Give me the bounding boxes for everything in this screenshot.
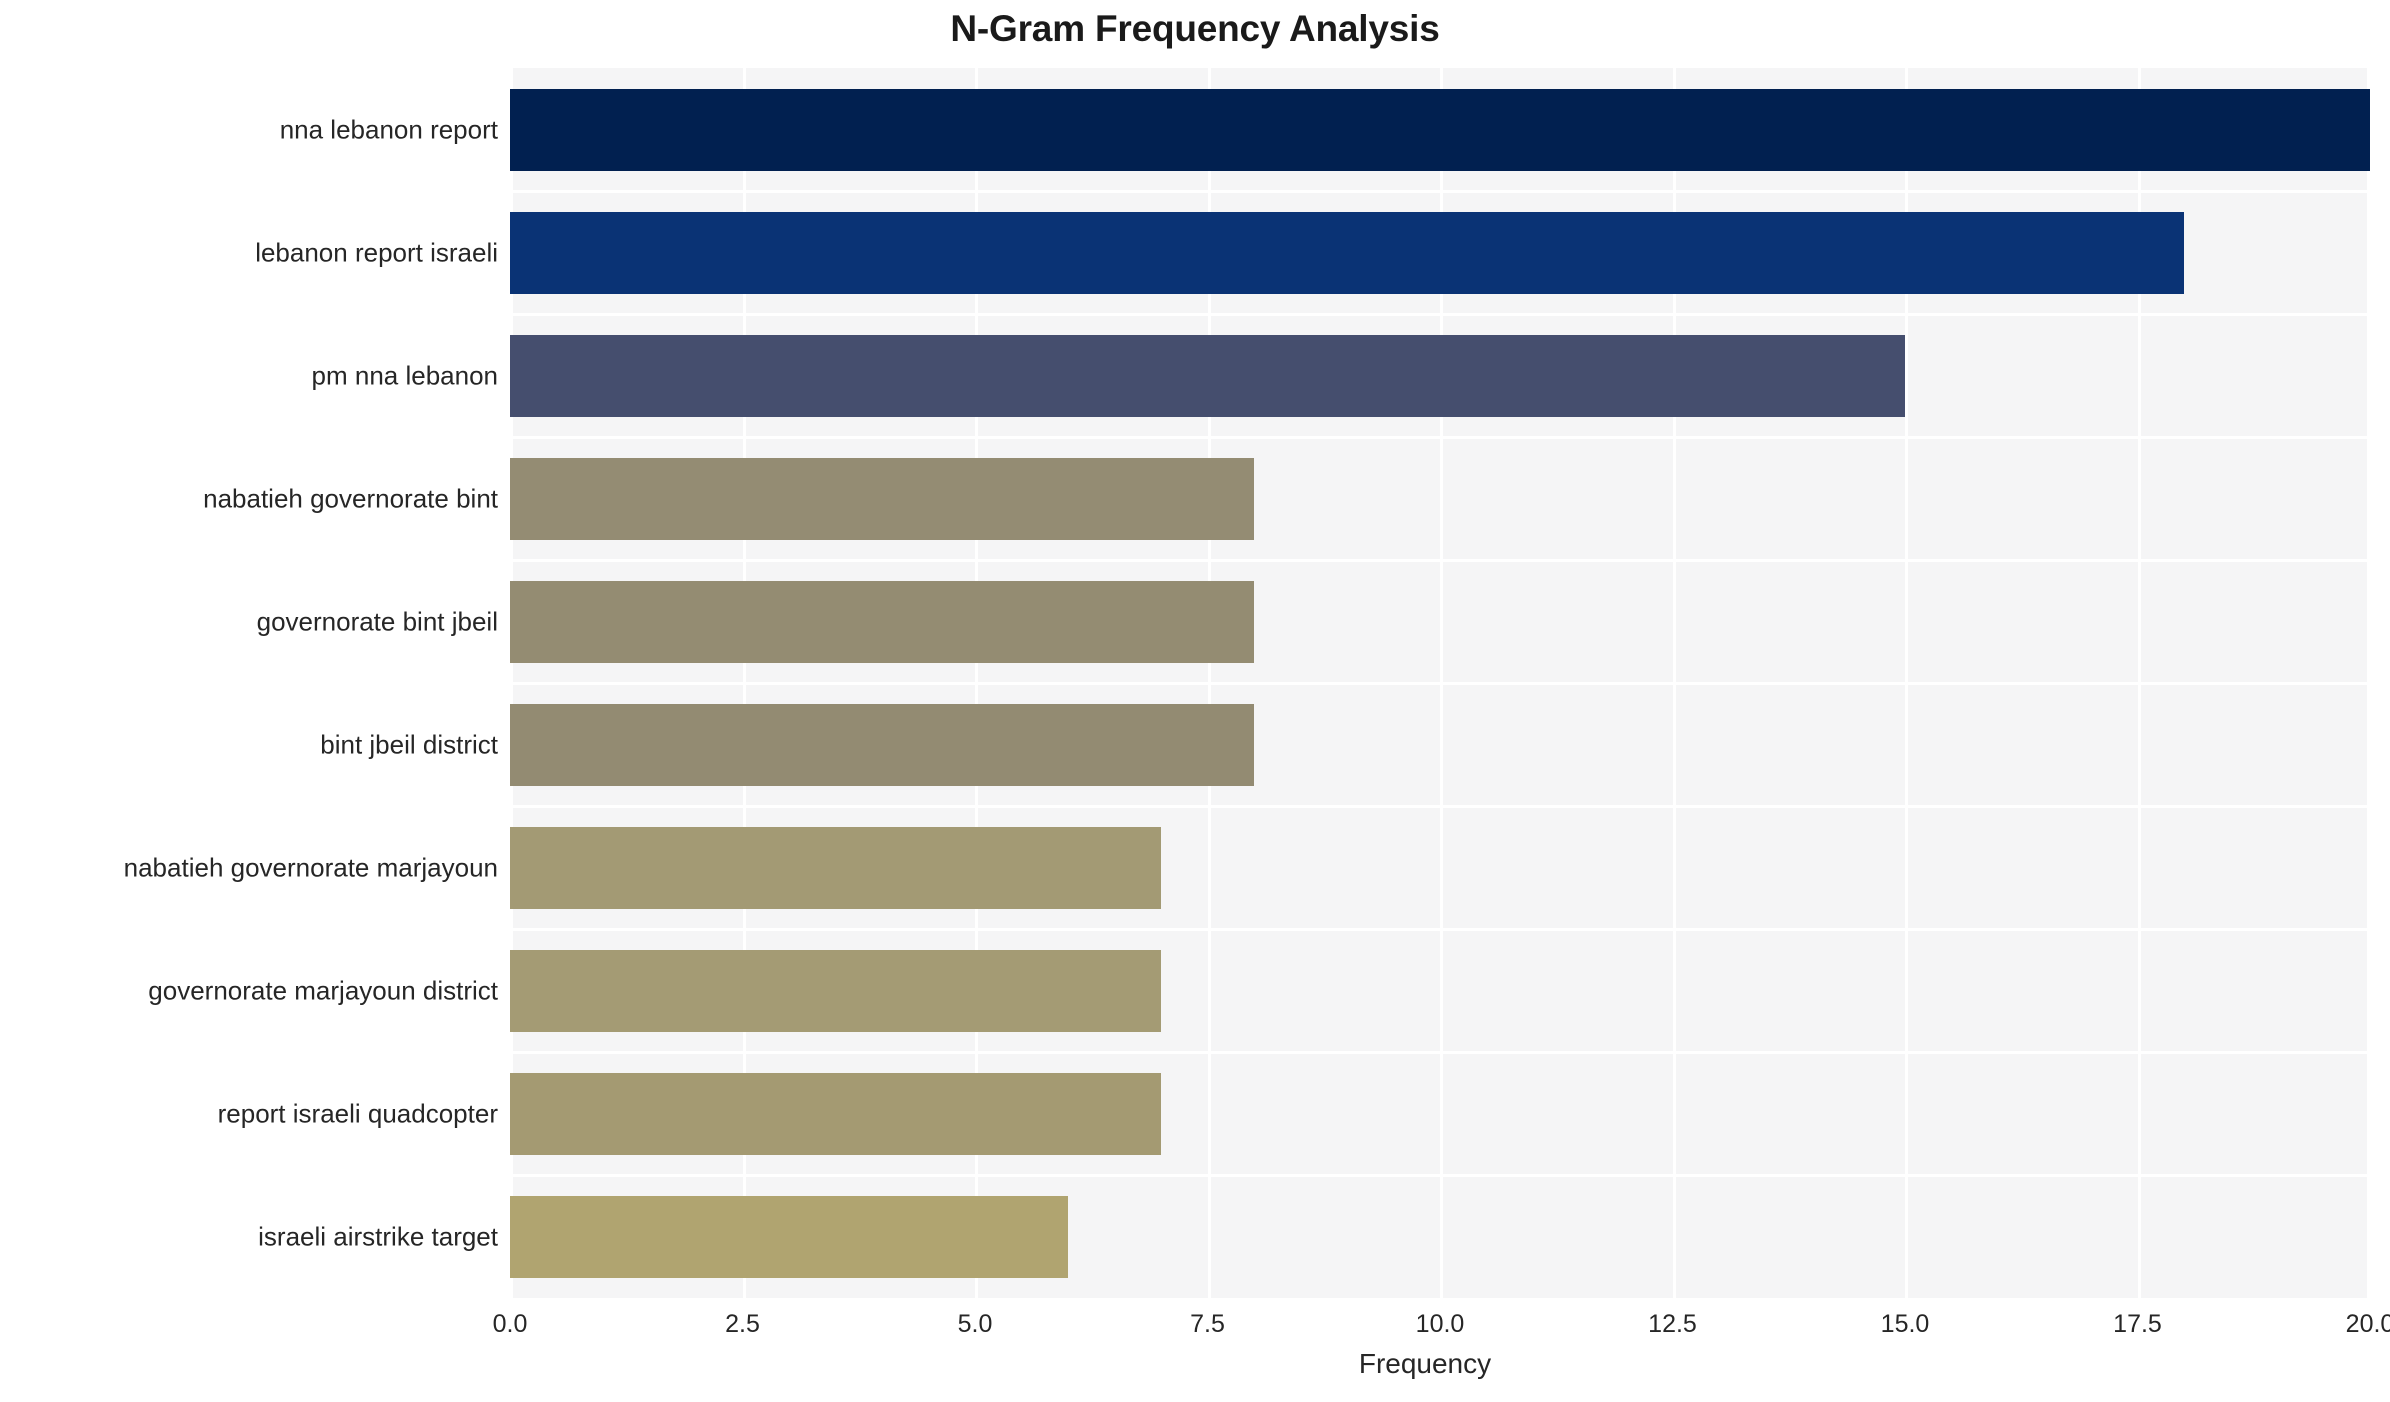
x-axis-tick-label: 2.5 [725, 1310, 760, 1339]
y-axis-tick-label: nabatieh governorate bint [203, 483, 498, 514]
x-axis-title: Frequency [0, 1348, 2390, 1380]
x-axis-tick-label: 5.0 [958, 1310, 993, 1339]
x-axis-tick-label: 17.5 [2113, 1310, 2162, 1339]
y-axis-tick-label: israeli airstrike target [258, 1221, 498, 1252]
x-axis-tick-label: 20.0 [2346, 1310, 2390, 1339]
y-axis-tick-label: pm nna lebanon [312, 360, 498, 391]
y-axis-tick-label: nabatieh governorate marjayoun [124, 852, 498, 883]
chart-title: N-Gram Frequency Analysis [0, 8, 2390, 50]
chart-figure: N-Gram Frequency Analysis nna lebanon re… [0, 0, 2390, 1402]
x-axis-title-text: Frequency [1359, 1348, 1491, 1380]
gridline-horizontal [510, 1051, 2370, 1054]
x-axis-tick-label: 10.0 [1416, 1310, 1465, 1339]
x-axis-tick-label: 7.5 [1190, 1310, 1225, 1339]
bar[interactable] [510, 704, 1254, 786]
x-axis-tick-label: 12.5 [1648, 1310, 1697, 1339]
gridline-horizontal [510, 805, 2370, 808]
y-axis-tick-label: nna lebanon report [280, 114, 498, 145]
gridline-horizontal [510, 928, 2370, 931]
y-axis-tick-label: bint jbeil district [320, 729, 498, 760]
y-axis-tick-label: governorate marjayoun district [148, 975, 498, 1006]
bar[interactable] [510, 458, 1254, 540]
gridline-horizontal [510, 436, 2370, 439]
bar[interactable] [510, 1196, 1068, 1278]
bar[interactable] [510, 1073, 1161, 1155]
gridline-horizontal [510, 313, 2370, 316]
gridline-horizontal [510, 682, 2370, 685]
bar[interactable] [510, 581, 1254, 663]
x-axis-tick-label: 0.0 [493, 1310, 528, 1339]
bar[interactable] [510, 89, 2370, 171]
plot-area [510, 68, 2370, 1298]
bar[interactable] [510, 827, 1161, 909]
x-axis-tick-label: 15.0 [1881, 1310, 1930, 1339]
y-axis-tick-label: report israeli quadcopter [218, 1098, 498, 1129]
bar[interactable] [510, 335, 1905, 417]
y-axis-tick-label: governorate bint jbeil [257, 606, 498, 637]
gridline-horizontal [510, 1174, 2370, 1177]
y-axis-tick-label: lebanon report israeli [255, 237, 498, 268]
gridline-horizontal [510, 190, 2370, 193]
bar[interactable] [510, 950, 1161, 1032]
bar[interactable] [510, 212, 2184, 294]
gridline-horizontal [510, 559, 2370, 562]
